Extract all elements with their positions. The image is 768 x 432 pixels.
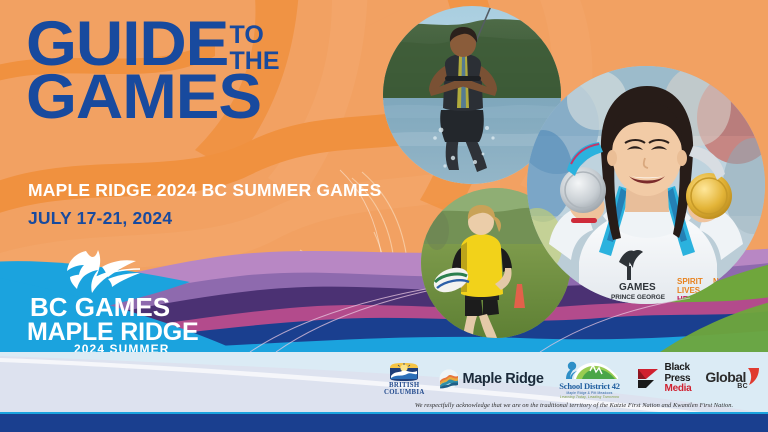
headline-games: GAMES bbox=[26, 70, 400, 124]
sponsor-school-district-42[interactable]: School District 42 Maple Ridge & Pitt Me… bbox=[558, 359, 622, 399]
sponsor-bc-line2: COLUMBIA bbox=[384, 389, 425, 396]
svg-text:PRINCE GEORGE: PRINCE GEORGE bbox=[611, 294, 666, 301]
sponsor-maple-ridge-label: Maple Ridge bbox=[463, 371, 544, 387]
bc-crest-icon bbox=[389, 362, 419, 382]
land-acknowledgement-text: We respectfully acknowledge that we are … bbox=[384, 402, 764, 410]
sponsor-british-columbia[interactable]: BRITISH COLUMBIA bbox=[384, 359, 425, 399]
sponsor-sd42-tagline: Learning Today, Leading Tomorrow bbox=[560, 395, 619, 399]
sponsor-bp-line3: Media bbox=[665, 384, 692, 395]
sponsor-footer-strip: BRITISH COLUMBIA Maple Ridge bbox=[0, 352, 768, 432]
headline-to: TO bbox=[230, 23, 280, 49]
headline-block: GUIDE TO THE GAMES bbox=[26, 18, 386, 124]
sponsor-bc-line1: BRITISH bbox=[389, 382, 419, 389]
logo-bcgames-text: BC GAMES bbox=[30, 294, 210, 320]
photo-medalist: GAMES PRINCE GEORGE SPIRIT LIVES HERE NJ… bbox=[527, 66, 765, 304]
sponsor-black-press-media[interactable]: Black Press Media bbox=[636, 359, 692, 399]
black-press-arrow-icon bbox=[636, 366, 662, 392]
sponsor-logo-row: BRITISH COLUMBIA Maple Ridge bbox=[384, 358, 760, 400]
guide-to-the-games-poster: GAMES PRINCE GEORGE SPIRIT LIVES HERE NJ… bbox=[0, 0, 768, 432]
svg-text:SPIRIT: SPIRIT bbox=[677, 277, 703, 286]
sd42-mountain-icon bbox=[560, 359, 620, 381]
svg-text:GAMES: GAMES bbox=[619, 282, 656, 293]
sponsor-maple-ridge[interactable]: Maple Ridge bbox=[439, 359, 544, 399]
subtitle-block: MAPLE RIDGE 2024 BC SUMMER GAMES JULY 17… bbox=[28, 180, 382, 229]
sponsor-sd42-label: School District 42 bbox=[559, 381, 620, 391]
event-name-line: MAPLE RIDGE 2024 BC SUMMER GAMES bbox=[28, 180, 382, 201]
event-date-line: JULY 17-21, 2024 bbox=[28, 208, 382, 229]
sponsor-global-bc[interactable]: Global BC bbox=[705, 359, 760, 399]
maple-ridge-mountain-icon bbox=[439, 369, 459, 389]
sponsor-global-sub: BC bbox=[737, 383, 748, 390]
global-arrow-icon bbox=[747, 368, 760, 385]
